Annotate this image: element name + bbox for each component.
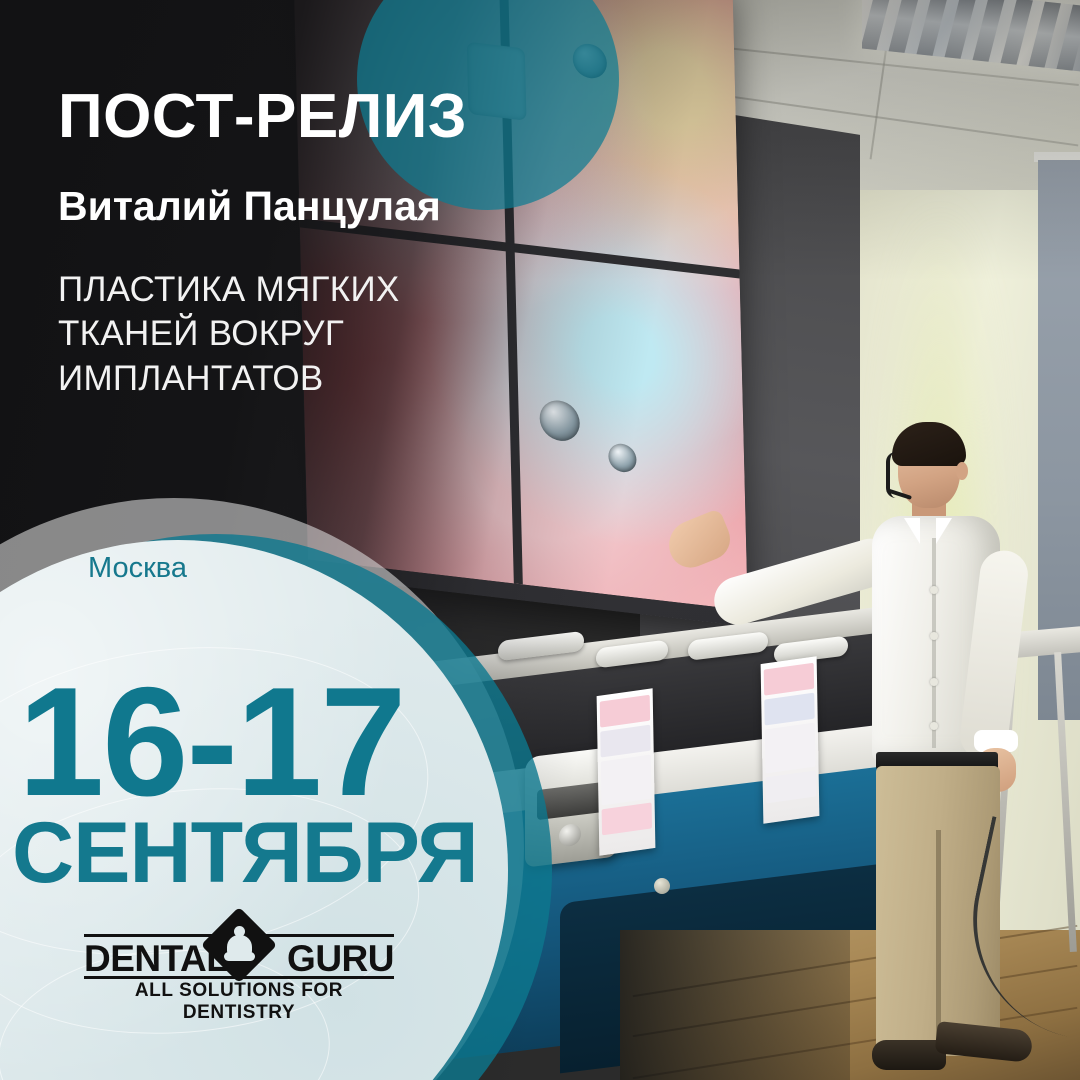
meditating-figure-icon <box>224 926 254 966</box>
lecture-topic: ПЛАСТИКА МЯГКИХ ТКАНЕЙ ВОКРУГ ИМПЛАНТАТО… <box>58 268 488 401</box>
city-label: Москва <box>88 552 187 585</box>
logo-tagline: ALL SOLUTIONS FOR DENTISTRY <box>84 980 394 1024</box>
event-month: СЕНТЯБРЯ <box>12 810 492 896</box>
dental-guru-logo: DENTAL GURU ALL SOLUTIONS FOR DENTISTRY <box>84 918 394 1000</box>
page-title: ПОСТ-РЕЛИЗ <box>58 86 467 148</box>
logo-word-guru: GURU <box>287 940 394 977</box>
post-release-poster: ПОСТ-РЕЛИЗ Виталий Панцулая ПЛАСТИКА МЯГ… <box>0 0 1080 1080</box>
speaker-name: Виталий Панцулая <box>58 186 441 227</box>
event-date-range: 16-17 <box>18 668 488 817</box>
